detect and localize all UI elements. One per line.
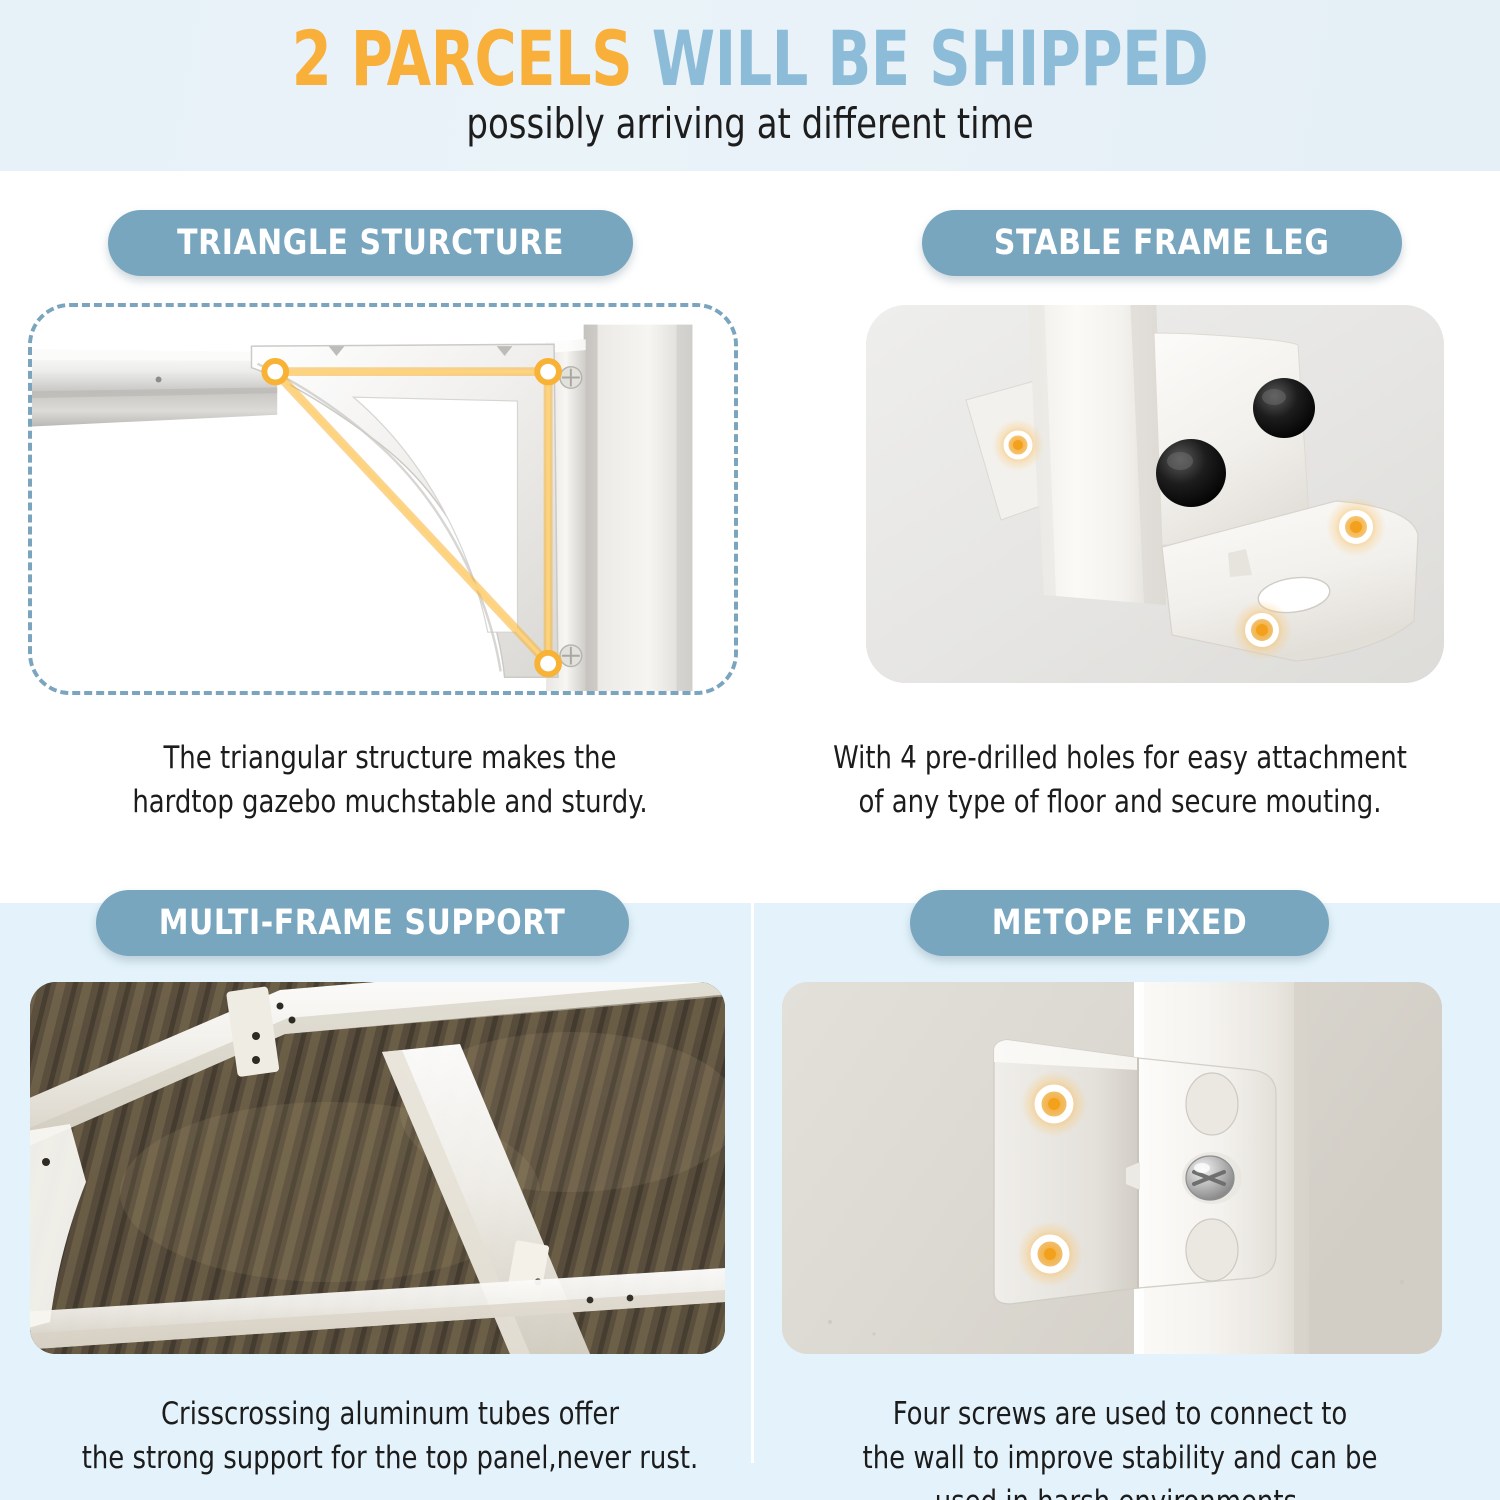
caption-triangle-structure: The triangular structure makes the hardt… (65, 736, 716, 824)
hole-highlight (1017, 1221, 1083, 1287)
feature-image-stable-frame-leg (866, 305, 1444, 683)
caption-multi-frame-support: Crisscrossing aluminum tubes offer the s… (65, 1392, 716, 1480)
title-rest: WILL BE SHIPPED (652, 14, 1208, 103)
caption-line: The triangular structure makes the (65, 736, 716, 780)
caption-line: used in harsh environments. (795, 1480, 1446, 1500)
metal-screw (1182, 1152, 1242, 1204)
badge-label: STABLE FRAME LEG (994, 223, 1330, 263)
hole-highlight (1326, 497, 1386, 557)
page-subtitle: possibly arriving at different time (75, 100, 1425, 148)
feature-image-triangle-structure (28, 303, 738, 695)
caption-metope-fixed: Four screws are used to connect to the w… (795, 1392, 1446, 1500)
aluminum-beam (32, 349, 277, 426)
badge-label: TRIANGLE STURCTURE (177, 223, 564, 263)
caption-line: Four screws are used to connect to (795, 1392, 1446, 1436)
badge-multi-frame-support: MULTI-FRAME SUPPORT (96, 890, 629, 956)
hole-highlight (1021, 1071, 1087, 1137)
vertical-divider (751, 903, 754, 1463)
caption-line: the wall to improve stability and can be (795, 1436, 1446, 1480)
badge-triangle-structure: TRIANGLE STURCTURE (108, 210, 633, 276)
badge-metope-fixed: METOPE FIXED (910, 890, 1329, 956)
title-highlight: 2 PARCELS (292, 14, 632, 103)
feature-image-metope-fixed (782, 982, 1442, 1354)
caption-line: With 4 pre-drilled holes for easy attach… (795, 736, 1446, 780)
badge-stable-frame-leg: STABLE FRAME LEG (922, 210, 1402, 276)
caption-line: hardtop gazebo muchstable and sturdy. (65, 780, 716, 824)
header-banner: 2 PARCELS WILL BE SHIPPED possibly arriv… (0, 0, 1500, 171)
hole-highlight (992, 419, 1044, 471)
infographic-page: 2 PARCELS WILL BE SHIPPED possibly arriv… (0, 0, 1500, 1500)
page-title: 2 PARCELS WILL BE SHIPPED (120, 18, 1380, 100)
caption-stable-frame-leg: With 4 pre-drilled holes for easy attach… (795, 736, 1446, 824)
caption-line: the strong support for the top panel,nev… (65, 1436, 716, 1480)
badge-label: MULTI-FRAME SUPPORT (159, 903, 566, 943)
badge-label: METOPE FIXED (992, 903, 1248, 943)
frame-leg-post (1028, 305, 1166, 605)
vertical-post (584, 325, 693, 691)
feature-image-multi-frame-support (30, 982, 725, 1354)
caption-line: of any type of floor and secure mouting. (795, 780, 1446, 824)
hole-highlight (1232, 600, 1292, 660)
caption-line: Crisscrossing aluminum tubes offer (65, 1392, 716, 1436)
